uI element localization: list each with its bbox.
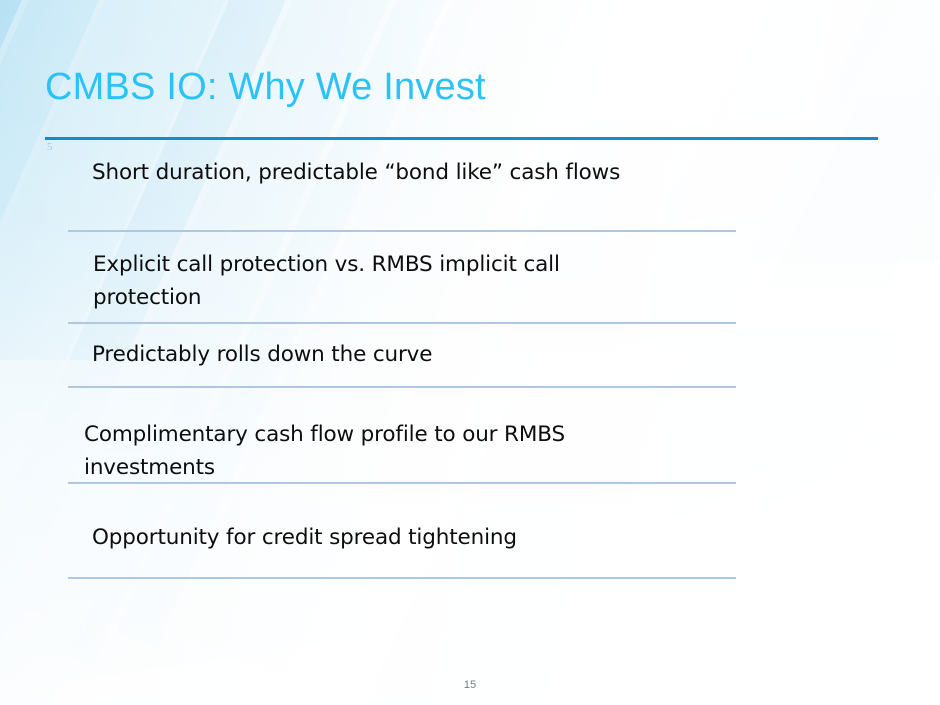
bullet-separator-3 — [68, 386, 736, 388]
bullet-item-3: Predictably rolls down the curve — [92, 338, 712, 371]
bullet-separator-4 — [68, 482, 736, 484]
bullet-item-4: Complimentary cash flow profile to our R… — [84, 418, 684, 484]
bullet-separator-2 — [68, 322, 736, 324]
bullet-item-1: Short duration, predictable “bond like” … — [92, 156, 752, 189]
bullet-separator-1 — [68, 230, 736, 232]
slide-content: CMBS IO: Why We Invest 5 Short duration,… — [0, 0, 940, 705]
presentation-slide: CMBS IO: Why We Invest 5 Short duration,… — [0, 0, 940, 705]
bullet-item-2: Explicit call protection vs. RMBS implic… — [93, 248, 673, 314]
page-number: 15 — [0, 679, 940, 691]
bullet-list: Short duration, predictable “bond like” … — [0, 0, 940, 705]
bullet-separator-5 — [68, 577, 736, 579]
bullet-item-5: Opportunity for credit spread tightening — [92, 521, 712, 554]
